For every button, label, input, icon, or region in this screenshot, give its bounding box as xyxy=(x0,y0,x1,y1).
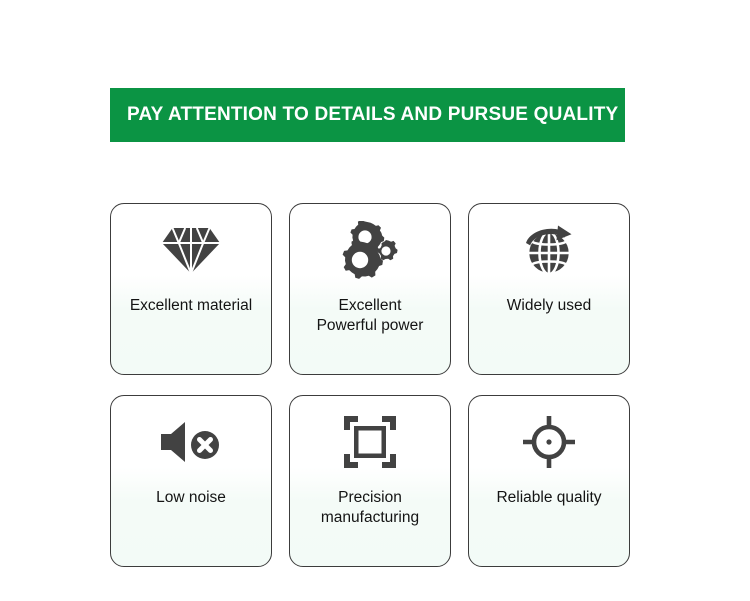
gears-icon xyxy=(290,204,450,296)
diamond-icon xyxy=(111,204,271,296)
banner-title: PAY ATTENTION TO DETAILS AND PURSUE QUAL… xyxy=(127,104,618,126)
crosshair-target-icon xyxy=(469,396,629,488)
card-label: Precision manufacturing xyxy=(290,488,450,566)
card-label: Widely used xyxy=(469,296,629,374)
card-label-line1: Widely used xyxy=(507,296,591,316)
page-root: PAY ATTENTION TO DETAILS AND PURSUE QUAL… xyxy=(0,0,750,601)
card-label-line1: Excellent xyxy=(317,296,424,316)
card-label-line1: Reliable quality xyxy=(496,488,601,508)
card-label-line2: manufacturing xyxy=(321,508,419,528)
header-banner: PAY ATTENTION TO DETAILS AND PURSUE QUAL… xyxy=(110,88,625,142)
feature-card-low-noise[interactable]: Low noise xyxy=(110,395,272,567)
card-label-line2: Powerful power xyxy=(317,316,424,336)
card-label: Excellent Powerful power xyxy=(290,296,450,374)
card-label-line1: Excellent material xyxy=(130,296,252,316)
feature-card-excellent-material[interactable]: Excellent material xyxy=(110,203,272,375)
card-label: Low noise xyxy=(111,488,271,566)
crop-frame-icon xyxy=(290,396,450,488)
card-label: Excellent material xyxy=(111,296,271,374)
card-label: Reliable quality xyxy=(469,488,629,566)
globe-arrow-icon xyxy=(469,204,629,296)
feature-card-grid: Excellent material xyxy=(110,203,630,567)
feature-card-precision-manufacturing[interactable]: Precision manufacturing xyxy=(289,395,451,567)
feature-card-widely-used[interactable]: Widely used xyxy=(468,203,630,375)
card-label-line1: Precision xyxy=(321,488,419,508)
card-label-line1: Low noise xyxy=(156,488,226,508)
speaker-mute-icon xyxy=(111,396,271,488)
feature-card-powerful-power[interactable]: Excellent Powerful power xyxy=(289,203,451,375)
feature-card-reliable-quality[interactable]: Reliable quality xyxy=(468,395,630,567)
